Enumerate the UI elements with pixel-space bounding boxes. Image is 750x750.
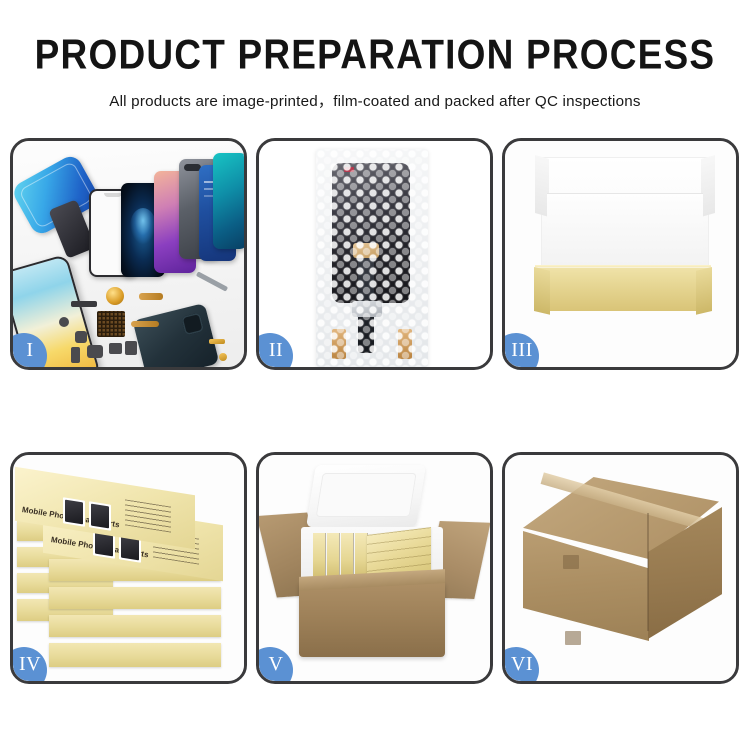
sim-tray-part: [71, 347, 80, 363]
step-badge-2-label: II: [269, 339, 283, 362]
carton-hand-hole-lower: [565, 631, 581, 645]
process-step-panel-5: V: [256, 452, 493, 684]
carton-vertical-seam: [647, 513, 649, 631]
vibration-motor-part: [106, 287, 124, 305]
kraft-carton-body: [299, 583, 445, 657]
process-step-panel-1: I: [10, 138, 247, 370]
camera-module-part: [75, 331, 87, 343]
step-badge-3-label: III: [511, 339, 532, 362]
gold-box-base: [535, 267, 711, 311]
step-badge-1-label: I: [26, 339, 33, 362]
step-2-illustration: II: [259, 141, 490, 367]
process-step-panel-4: Mobile Phone Spare Parts Mobile Phone Sp…: [10, 452, 247, 684]
screwdriver-tip-part: [209, 339, 225, 344]
step-1-illustration: I: [13, 141, 244, 367]
gold-box-upright: [313, 533, 325, 581]
stacked-box-edge: [49, 615, 221, 637]
bubble-wrap-package: [316, 149, 428, 367]
step-badge-5-label: V: [269, 653, 284, 676]
box-window-1b: [89, 501, 111, 530]
earpiece-mesh-part: [71, 301, 97, 307]
box-window-1a: [63, 497, 85, 526]
foam-lid-open: [306, 465, 426, 527]
page-title: PRODUCT PREPARATION PROCESS: [0, 34, 750, 78]
battery-connector-part: [109, 343, 122, 354]
power-flex-cable-part: [139, 293, 163, 300]
step-badge-6-label: VI: [511, 653, 533, 676]
step-badge-4-label: IV: [19, 653, 41, 676]
teal-wave-phone: [213, 153, 244, 249]
carton-hand-hole-upper: [563, 555, 579, 569]
step-3-illustration: III: [505, 141, 736, 367]
process-step-panel-6: VI: [502, 452, 739, 684]
stacked-box-edge: [49, 587, 221, 609]
white-foam-front: [547, 193, 703, 271]
speaker-module-part: [87, 345, 103, 358]
step-4-illustration: Mobile Phone Spare Parts Mobile Phone Sp…: [13, 455, 244, 681]
taptic-engine-part: [125, 341, 137, 355]
ic-chip-grid-part: [97, 311, 125, 337]
product-preparation-infographic: { "header": { "title": "PRODUCT PREPARAT…: [0, 0, 750, 750]
home-button-part: [59, 317, 69, 327]
step-5-illustration: V: [259, 455, 490, 681]
step-6-illustration: VI: [505, 455, 736, 681]
process-step-panel-3: III: [502, 138, 739, 370]
process-step-grid: I II: [10, 138, 740, 684]
stacked-box-edge: [49, 643, 221, 667]
screw-set-part: [219, 353, 227, 361]
bubble-texture-back: [316, 149, 428, 367]
gold-box-stack: Mobile Phone Spare Parts Mobile Phone Sp…: [13, 455, 244, 681]
page-subtitle: All products are image-printed，film-coat…: [0, 89, 750, 111]
page-header: PRODUCT PREPARATION PROCESS All products…: [0, 0, 750, 111]
volume-flex-cable-part: [131, 321, 159, 327]
process-step-panel-2: II: [256, 138, 493, 370]
